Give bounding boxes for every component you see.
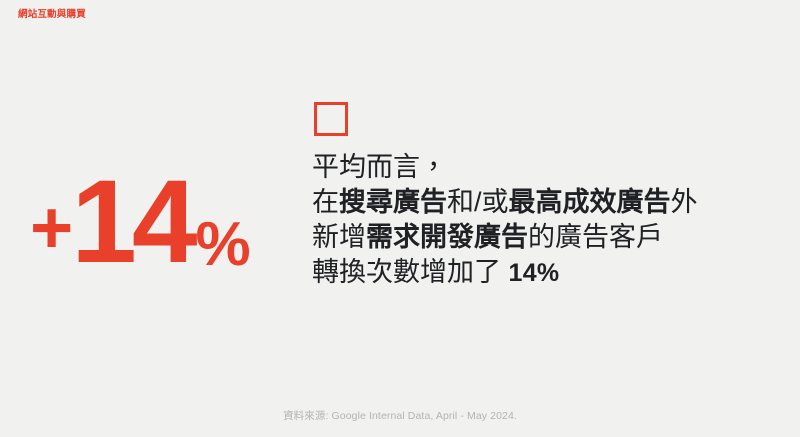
body-copy-line-1: 平均而言，	[312, 150, 782, 185]
body-copy-line-3: 新增需求開發廣告的廣告客戶	[312, 220, 782, 255]
body-text-segment: 在	[312, 187, 339, 217]
body-copy-line-4: 轉換次數增加了 14%	[312, 255, 782, 291]
body-text-segment: 轉換次數增加了	[312, 257, 509, 287]
body-text-emphasis: 最高成效廣告	[509, 187, 671, 217]
section-eyebrow-label: 網站互動與購買	[18, 8, 86, 22]
body-text-segment: 和/或	[447, 187, 509, 217]
stat-sign: +	[30, 194, 71, 262]
body-text-emphasis: 需求開發廣告	[366, 222, 528, 252]
body-text-segment: 新增	[312, 222, 366, 252]
body-text-emphasis: 搜尋廣告	[339, 187, 447, 217]
body-text-segment: 外	[671, 187, 698, 217]
body-text-segment: 的廣告客戶	[528, 222, 663, 252]
stat-value: 14	[71, 168, 192, 277]
body-text-segment: 平均而言，	[312, 152, 447, 182]
slide-canvas: 網站互動與購買 + 14 % 平均而言， 在搜尋廣告和/或最高成效廣告外 新增需…	[0, 0, 800, 437]
stat-unit: %	[195, 216, 248, 273]
source-footnote: 資料來源: Google Internal Data, April - May …	[0, 409, 800, 424]
body-copy-line-2: 在搜尋廣告和/或最高成效廣告外	[312, 185, 782, 220]
body-text-metric: 14%	[509, 259, 560, 287]
body-copy: 平均而言， 在搜尋廣告和/或最高成效廣告外 新增需求開發廣告的廣告客戶 轉換次數…	[312, 150, 782, 291]
headline-stat: + 14 %	[30, 168, 246, 277]
outlined-square-icon	[314, 102, 348, 136]
